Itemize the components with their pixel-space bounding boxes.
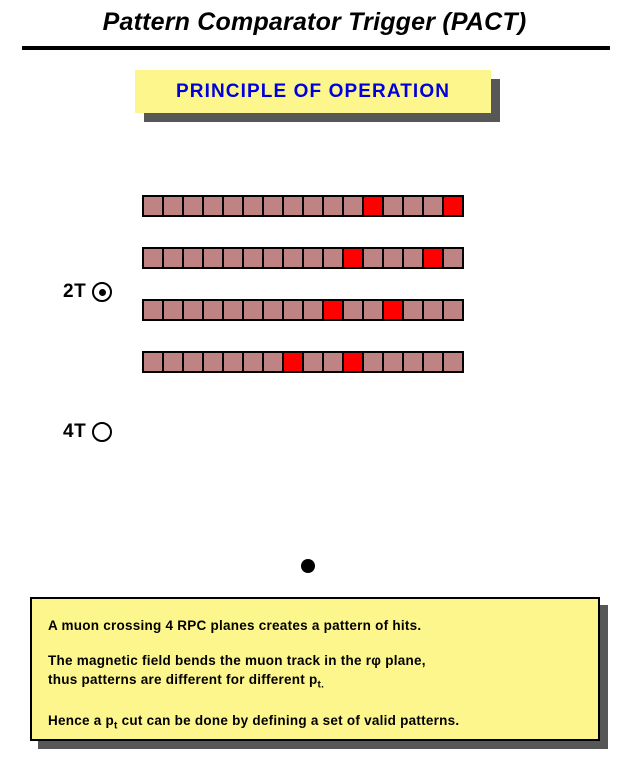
rpc-strip: [224, 353, 244, 371]
rpc-strip: [404, 197, 424, 215]
rpc-strip: [364, 249, 384, 267]
rpc-strip: [184, 197, 204, 215]
note-paragraph-1: A muon crossing 4 RPC planes creates a p…: [48, 616, 584, 635]
rpc-strip: [264, 301, 284, 319]
rpc-strip: [204, 353, 224, 371]
page-title: Pattern Comparator Trigger (PACT): [0, 8, 629, 37]
rpc-strip: [364, 353, 384, 371]
rpc-strip: [344, 301, 364, 319]
rpc-strip: [244, 249, 264, 267]
field-label-4t-text: 4T: [63, 421, 86, 443]
note-paragraph-3: Hence a pt cut can be done by defining a…: [48, 711, 584, 736]
field-label-4t: 4T: [63, 421, 112, 443]
rpc-plane-row: [142, 299, 464, 321]
field-label-2t-text: 2T: [63, 281, 86, 303]
rpc-strip: [304, 353, 324, 371]
rpc-strip: [144, 301, 164, 319]
rpc-strip: [304, 197, 324, 215]
rpc-strip: [324, 197, 344, 215]
rpc-strip: [164, 353, 184, 371]
rpc-strip: [264, 197, 284, 215]
rpc-strip-hit: [364, 197, 384, 215]
rpc-strip: [404, 353, 424, 371]
note-box: A muon crossing 4 RPC planes creates a p…: [30, 597, 600, 741]
rpc-plane-row: [142, 195, 464, 217]
rpc-strip: [404, 301, 424, 319]
banner-box: PRINCIPLE OF OPERATION: [135, 70, 491, 113]
rpc-strip: [144, 249, 164, 267]
rpc-strip-hit: [344, 353, 364, 371]
rpc-strip: [164, 301, 184, 319]
rpc-strip: [304, 301, 324, 319]
principle-banner: PRINCIPLE OF OPERATION: [135, 70, 491, 113]
banner-label: PRINCIPLE OF OPERATION: [135, 70, 491, 113]
rpc-strip: [224, 249, 244, 267]
rpc-strip: [404, 249, 424, 267]
title-divider: [22, 46, 610, 50]
rpc-strip: [204, 249, 224, 267]
rpc-strip-hit: [444, 197, 462, 215]
rpc-strip: [344, 197, 364, 215]
note-paragraph-3-pre: Hence a p: [48, 713, 114, 728]
rpc-strip: [164, 249, 184, 267]
rpc-strip: [444, 353, 462, 371]
rpc-strip: [284, 249, 304, 267]
rpc-strip: [224, 301, 244, 319]
rpc-strip: [184, 249, 204, 267]
rpc-strip: [384, 249, 404, 267]
rpc-strip: [324, 249, 344, 267]
rpc-strip: [244, 353, 264, 371]
rpc-strip-hit: [424, 249, 444, 267]
rpc-strip: [304, 249, 324, 267]
rpc-strip: [324, 353, 344, 371]
note-paragraph-3-post: cut can be done by defining a set of val…: [118, 713, 460, 728]
note-subscript-t-1: t.: [318, 680, 325, 691]
rpc-strip: [364, 301, 384, 319]
rpc-strip: [184, 301, 204, 319]
rpc-plane-row: [142, 247, 464, 269]
field-circle-icon: [92, 422, 112, 442]
rpc-strip: [424, 301, 444, 319]
field-out-of-page-icon: [92, 282, 112, 302]
rpc-strip: [384, 197, 404, 215]
rpc-strip: [264, 249, 284, 267]
rpc-strip-hit: [284, 353, 304, 371]
rpc-strip: [244, 301, 264, 319]
rpc-strip: [244, 197, 264, 215]
rpc-strip: [384, 353, 404, 371]
explanation-note: A muon crossing 4 RPC planes creates a p…: [30, 597, 600, 741]
rpc-strip: [444, 301, 462, 319]
note-paragraph-2-line-2: thus patterns are different for differen…: [48, 672, 318, 687]
rpc-strip-hit: [344, 249, 364, 267]
field-label-2t: 2T: [63, 281, 112, 303]
rpc-strip-hit: [384, 301, 404, 319]
rpc-strip: [424, 197, 444, 215]
interaction-point-dot: [301, 559, 315, 573]
rpc-strip: [284, 197, 304, 215]
rpc-strip: [224, 197, 244, 215]
rpc-strip-hit: [324, 301, 344, 319]
rpc-strip: [144, 197, 164, 215]
rpc-strip: [264, 353, 284, 371]
note-paragraph-2-line-1: The magnetic field bends the muon track …: [48, 653, 426, 668]
rpc-strip: [444, 249, 462, 267]
rpc-plane-row: [142, 351, 464, 373]
rpc-strip: [144, 353, 164, 371]
rpc-strip: [164, 197, 184, 215]
rpc-strip: [204, 301, 224, 319]
rpc-strip: [184, 353, 204, 371]
rpc-strip: [424, 353, 444, 371]
rpc-strip: [204, 197, 224, 215]
rpc-strip: [284, 301, 304, 319]
note-paragraph-2: The magnetic field bends the muon track …: [48, 651, 584, 695]
